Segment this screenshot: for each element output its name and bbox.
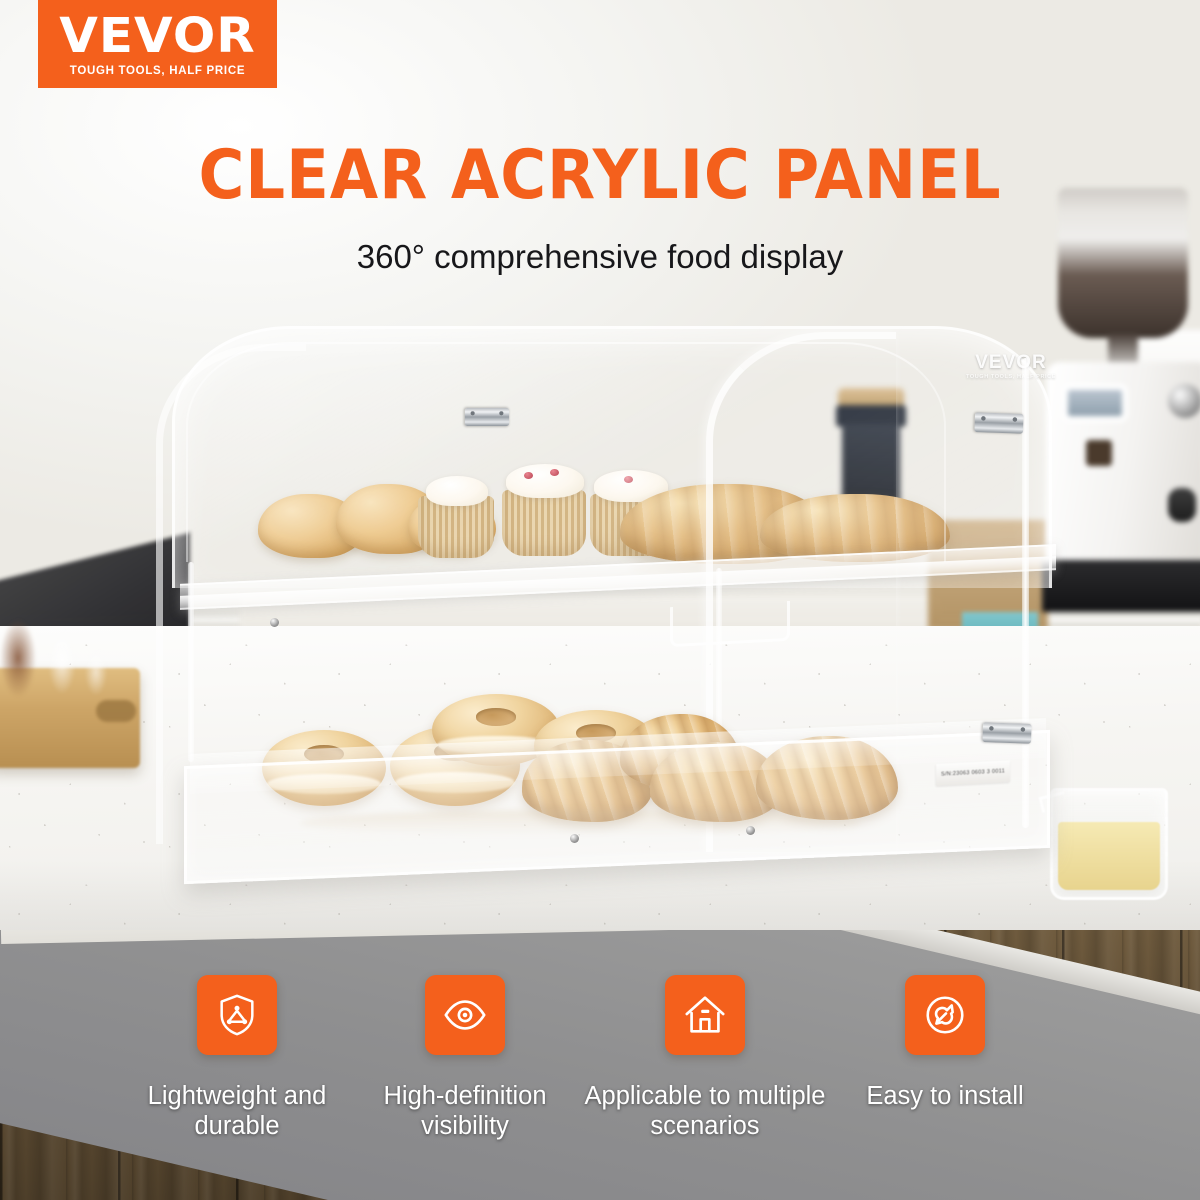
feature-label: Easy to install [866,1081,1023,1111]
wrench-icon [922,992,968,1038]
eye-icon [442,992,488,1038]
etched-brand-logo: VEVOR TOUGH TOOLS, HALF PRICE [956,352,1066,380]
case-hinge-side-right [982,722,1031,743]
serial-number-label: S/N:23063 0603 3 0011 [936,760,1010,786]
case-hinge-top-right [974,412,1023,433]
brand-logo: VEVOR TOUGH TOOLS, HALF PRICE [38,0,277,88]
feature-item-scenarios: Applicable to multiple scenarios [579,975,831,1141]
case-hinge-top-left [465,408,509,426]
feature-label: Lightweight and durable [123,1081,351,1141]
feature-list: Lightweight and durable High-definition … [0,975,1200,1200]
shield-icon-tile [197,975,277,1055]
marketing-banner: VEVOR TOUGH TOOLS, HALF PRICE [0,0,1200,1200]
feature-item-durable: Lightweight and durable [123,975,351,1141]
case-left-post [188,562,194,762]
house-icon [682,992,728,1038]
page-title: CLEAR ACRYLIC PANEL [48,142,1152,210]
brand-logo-tagline: TOUGH TOOLS, HALF PRICE [70,65,245,77]
shield-icon [214,992,260,1038]
condiment-bottles [0,600,120,710]
house-icon-tile [665,975,745,1055]
etched-logo-tagline: TOUGH TOOLS, HALF PRICE [956,374,1066,380]
etched-logo-mark: VEVOR [956,352,1066,374]
page-subtitle: 360° comprehensive food display [0,238,1200,276]
wrench-icon-tile [905,975,985,1055]
brand-logo-mark: VEVOR [59,12,256,60]
feature-label: Applicable to multiple scenarios [579,1081,831,1141]
grinder-knob [1168,384,1200,418]
feature-item-visibility: High-definition visibility [351,975,579,1141]
feature-item-install: Easy to install [831,975,1059,1111]
feature-label: High-definition visibility [351,1081,579,1141]
eye-icon-tile [425,975,505,1055]
acrylic-display-case: VEVOR TOUGH TOOLS, HALF PRICE [150,318,1080,878]
